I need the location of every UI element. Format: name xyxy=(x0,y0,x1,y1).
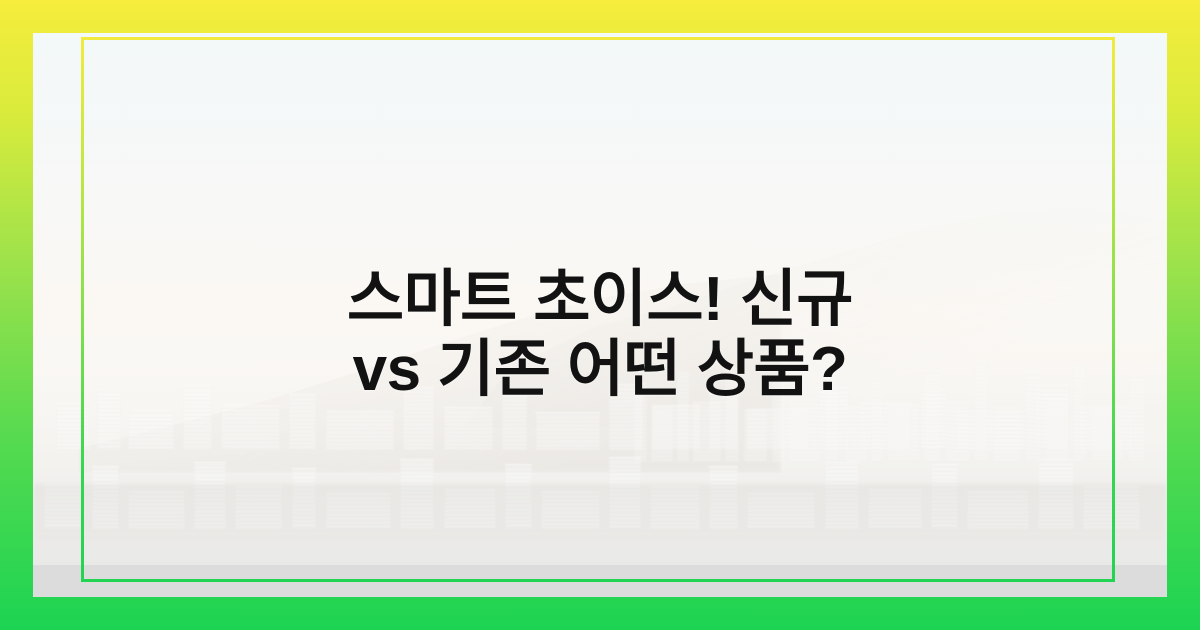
thumbnail-card: 스마트 초이스! 신규 vs 기존 어떤 상품? xyxy=(0,0,1200,630)
headline-line-1: 스마트 초이스! 신규 xyxy=(123,265,1077,335)
plate-footer xyxy=(33,565,1167,597)
headline-line-2: vs 기존 어떤 상품? xyxy=(123,335,1077,405)
headline: 스마트 초이스! 신규 vs 기존 어떤 상품? xyxy=(33,265,1167,405)
photo-plate: 스마트 초이스! 신규 vs 기존 어떤 상품? xyxy=(33,33,1167,597)
